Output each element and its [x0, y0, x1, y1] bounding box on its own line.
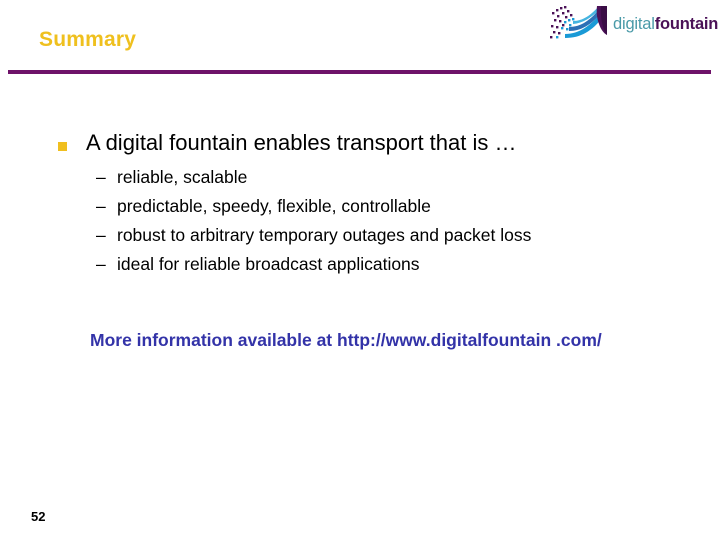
list-item-label: reliable, scalable — [117, 163, 247, 192]
sub-bullet-list: – reliable, scalable – predictable, spee… — [96, 163, 696, 279]
list-item: – ideal for reliable broadcast applicati… — [96, 250, 696, 279]
list-item-label: robust to arbitrary temporary outages an… — [117, 221, 531, 250]
list-item: – predictable, speedy, flexible, control… — [96, 192, 696, 221]
list-item-label: ideal for reliable broadcast application… — [117, 250, 420, 279]
list-item: – robust to arbitrary temporary outages … — [96, 221, 696, 250]
list-item: – reliable, scalable — [96, 163, 696, 192]
main-bullet-text: A digital fountain enables transport tha… — [86, 128, 516, 158]
dash-bullet-icon: – — [96, 250, 116, 279]
list-item-label: predictable, speedy, flexible, controlla… — [117, 192, 431, 221]
slide-body: A digital fountain enables transport tha… — [0, 0, 719, 539]
dash-bullet-icon: – — [96, 192, 116, 221]
page-number: 52 — [31, 509, 45, 524]
square-bullet-icon — [58, 142, 67, 151]
slide: digitalfountain Summary A digital founta… — [0, 0, 719, 539]
more-information-link[interactable]: More information available at http://www… — [90, 330, 602, 351]
dash-bullet-icon: – — [96, 163, 116, 192]
main-bullet: A digital fountain enables transport tha… — [58, 128, 678, 158]
dash-bullet-icon: – — [96, 221, 116, 250]
